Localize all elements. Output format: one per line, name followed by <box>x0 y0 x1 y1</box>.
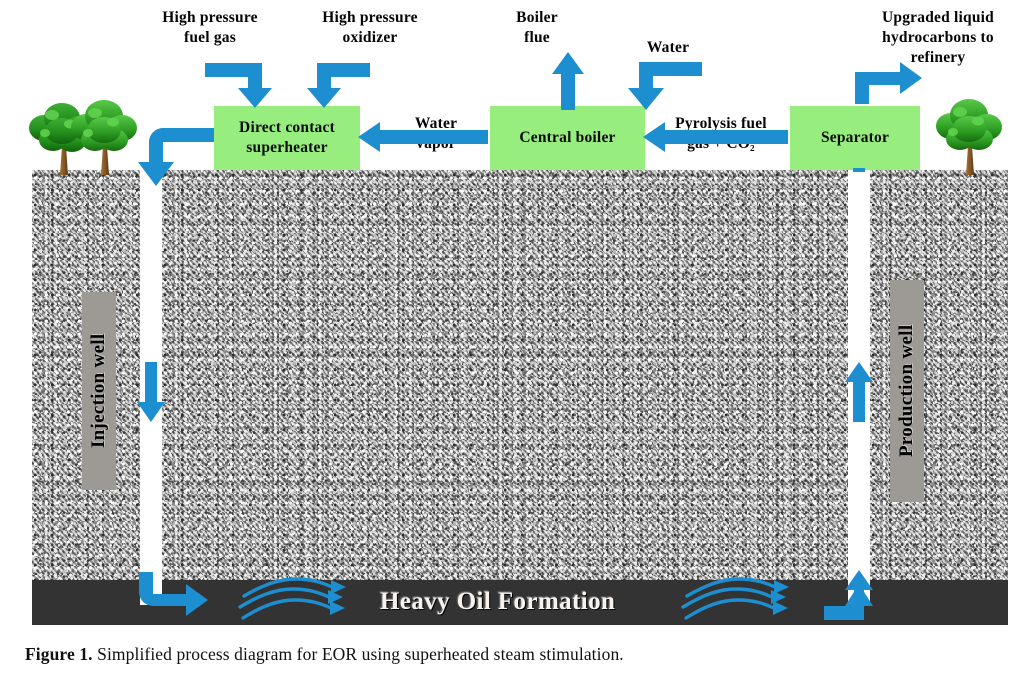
label-ulh-line1: Upgraded liquid <box>882 9 994 26</box>
production-well-shaft-lower <box>848 580 870 605</box>
heavy-oil-formation-label: Heavy Oil Formation <box>380 588 615 616</box>
label-hpox-line2: oxidizer <box>343 29 398 46</box>
label-hpox-line1: High pressure <box>322 9 417 26</box>
label-wv-line2: vapor <box>416 135 456 152</box>
figure-caption: Figure 1. Simplified process diagram for… <box>25 644 624 665</box>
label-pfg-line1: Pyrolysis fuel <box>675 115 767 132</box>
label-upgraded-liquid-hydrocarbons: Upgraded liquid hydrocarbons to refinery <box>854 8 1022 68</box>
label-boiler-flue: Boiler flue <box>487 8 587 48</box>
label-high-pressure-oxidizer: High pressure oxidizer <box>290 8 450 48</box>
box-separator[interactable]: Separator <box>790 106 920 170</box>
production-well-label: Production well <box>890 280 924 502</box>
arrow-high-pressure-fuel-gas <box>205 63 272 108</box>
tree-icon-left-a <box>29 103 94 175</box>
tree-icon-right <box>936 99 1002 175</box>
label-ulh-line3: refinery <box>911 49 966 66</box>
injection-well-label: Injection well <box>82 292 116 490</box>
box-superheater-text: Direct contact superheater <box>239 118 335 158</box>
tree-icon-left-b <box>71 100 137 175</box>
box-superheater-line1: Direct contact <box>239 119 335 136</box>
label-water-line1: Water <box>647 39 689 56</box>
label-water-vapor: Water vapor <box>386 114 486 154</box>
injection-well-shaft <box>140 170 162 605</box>
label-pyrolysis-fuel-gas: Pyrolysis fuel gas + CO₂ <box>656 114 786 154</box>
label-flue-line2: flue <box>524 29 550 46</box>
label-hpfg-line1: High pressure <box>162 9 257 26</box>
box-boiler-line1: Central boiler <box>519 128 615 148</box>
arrow-boiler-flue <box>552 52 584 110</box>
process-diagram-figure: Heavy Oil Formation Injection well Produ… <box>0 0 1024 682</box>
label-flue-line1: Boiler <box>516 9 558 26</box>
label-water: Water <box>618 38 718 58</box>
box-separator-line1: Separator <box>821 128 889 148</box>
arrow-water <box>628 62 702 110</box>
label-wv-line1: Water <box>415 115 457 132</box>
arrow-high-pressure-oxidizer <box>307 63 370 108</box>
box-central-boiler[interactable]: Central boiler <box>490 106 645 170</box>
figure-caption-text: Simplified process diagram for EOR using… <box>93 644 624 664</box>
injection-well-shaft-lower <box>140 580 162 605</box>
label-ulh-line2: hydrocarbons to <box>882 29 994 46</box>
box-superheater-line2: superheater <box>246 139 327 156</box>
box-direct-contact-superheater[interactable]: Direct contact superheater <box>214 106 360 170</box>
label-pfg-line2: gas + CO₂ <box>687 135 755 152</box>
label-hpfg-line2: fuel gas <box>184 29 236 46</box>
figure-caption-label: Figure 1. <box>25 644 93 664</box>
production-well-shaft <box>848 170 870 605</box>
rock-strata-main <box>162 170 848 580</box>
label-high-pressure-fuel-gas: High pressure fuel gas <box>130 8 290 48</box>
